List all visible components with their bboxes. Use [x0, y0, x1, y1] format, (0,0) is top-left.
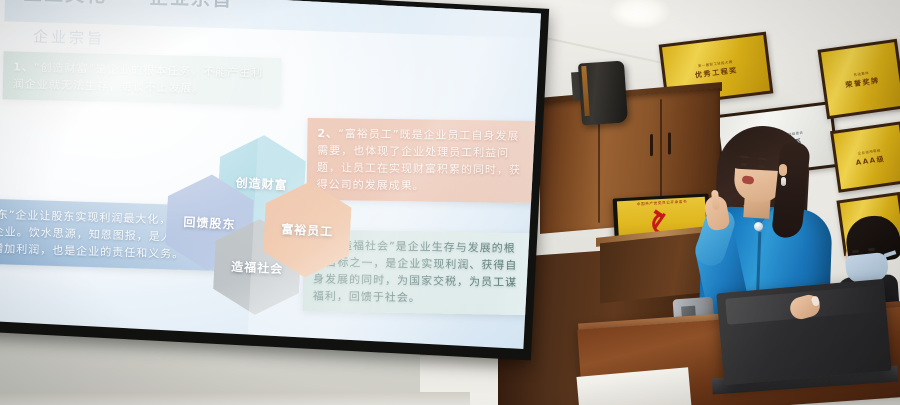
- box-number: 2、: [317, 127, 338, 140]
- projection-screen[interactable]: 企业文化——企业宗旨 企业宗旨 1、“创造财富”是企业的根本任务，不能产生利润企…: [0, 0, 549, 368]
- plaque-sub: 先进集体: [853, 69, 869, 76]
- photo-scene: 荣誉证书 第一届职工技能大赛 优秀工程奖 泗水县优秀企业评选活动组委会 优秀劳动…: [0, 0, 900, 405]
- slide-box-create-wealth: 1、“创造财富”是企业的根本任务，不能产生利润企业就无法生存，更谈不上发展。: [2, 51, 281, 106]
- presenter-ear: [779, 164, 787, 176]
- hex-label: 回馈股东: [183, 213, 236, 233]
- presenter-eye-left: [741, 163, 747, 167]
- plaque-gold-right-2: 企业信用等级 AAA级: [830, 121, 900, 192]
- box-text: “创造财富”是企业的根本任务，不能产生利润企业就无法生存，更谈不上发展。: [13, 61, 264, 95]
- earring-icon: [781, 177, 786, 186]
- hex-label: 造福社会: [231, 257, 284, 277]
- slide: 企业文化——企业宗旨 企业宗旨 1、“创造财富”是企业的根本任务，不能产生利润企…: [0, 0, 541, 349]
- hex-label: 富裕员工: [281, 220, 334, 240]
- presenter-eye-right: [759, 165, 765, 169]
- hex-label: 创造财富: [235, 173, 288, 193]
- plaque-main: AAA级: [855, 153, 886, 167]
- cpc-emblem-icon: [651, 211, 674, 230]
- brooch-icon: [754, 222, 763, 231]
- floor-front: [0, 392, 470, 405]
- slide-subtitle: 企业宗旨: [33, 26, 106, 50]
- plaque-main: 荣誉奖牌: [845, 75, 880, 90]
- hexagon-cluster: 创造财富 回馈股东 造福社会 富裕员工: [165, 134, 363, 294]
- presenter-mouth: [742, 175, 755, 185]
- box-number: 1、: [13, 61, 34, 75]
- screen-surface: 企业文化——企业宗旨 企业宗旨 1、“创造财富”是企业的根本任务，不能产生利润企…: [0, 0, 541, 349]
- plaque-gold-right-1: 先进集体 荣誉奖牌: [818, 39, 900, 119]
